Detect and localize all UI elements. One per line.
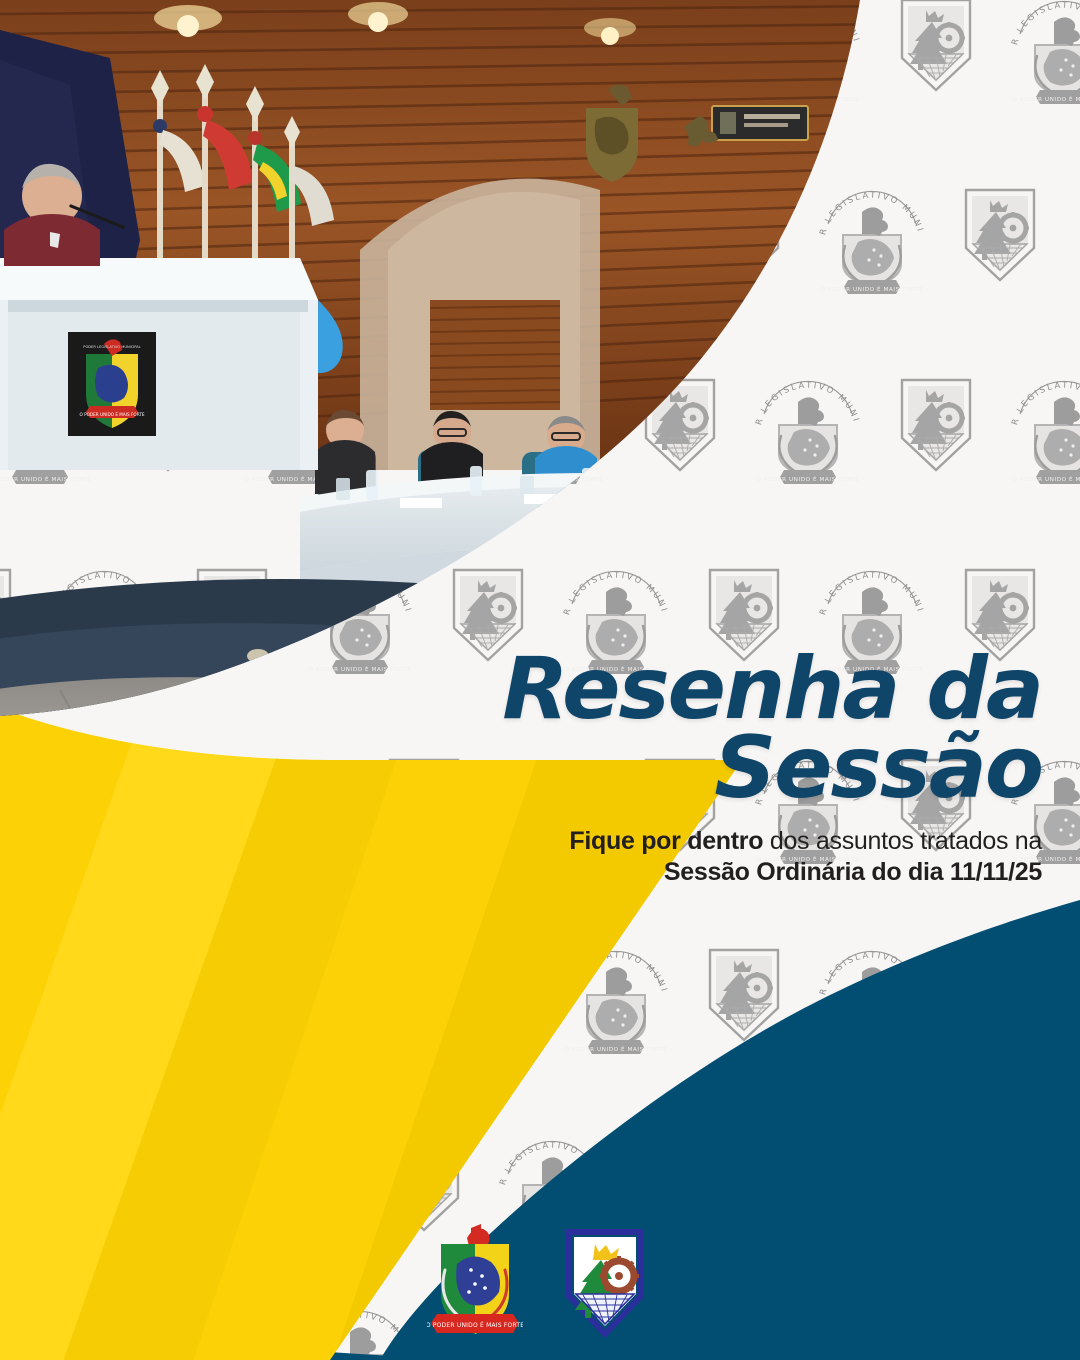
crest-motto-left: O PODER UNIDO É MAIS FORTE <box>427 1321 523 1329</box>
headline-block: Resenha da Sessão Fique por dentro dos a… <box>382 650 1042 887</box>
subtitle-bold-lead: Fique por dentro <box>569 827 763 855</box>
podium: O PODER UNIDO É MAIS FORTE PODER LEGISLA… <box>0 258 318 470</box>
subtitle: Fique por dentro dos assuntos tratados n… <box>382 826 1042 887</box>
page-title: Resenha da Sessão <box>382 650 1042 808</box>
subtitle-line-2: Sessão Ordinária do dia 11/11/25 <box>382 857 1042 888</box>
svg-text:PODER LEGISLATIVO MUNICIPAL: PODER LEGISLATIVO MUNICIPAL <box>83 345 140 349</box>
poster-canvas: PODER LEGISLATIVO MUNICIPAL O PODER UNID… <box>0 0 1080 1360</box>
title-line-2: Sessão <box>382 729 1042 808</box>
svg-text:O PODER UNIDO É MAIS FORTE: O PODER UNIDO É MAIS FORTE <box>79 412 144 417</box>
footer-crests: O PODER UNIDO É MAIS FORTE <box>0 1222 1080 1342</box>
session-photo: O PODER UNIDO É MAIS FORTE PODER LEGISLA… <box>0 0 900 740</box>
wall-plaque <box>712 106 808 140</box>
subtitle-rest: dos assuntos tratados na <box>763 827 1042 855</box>
municipality-pine-gear-crest <box>557 1222 653 1342</box>
camara-municipal-crest: O PODER UNIDO É MAIS FORTE <box>427 1222 523 1342</box>
